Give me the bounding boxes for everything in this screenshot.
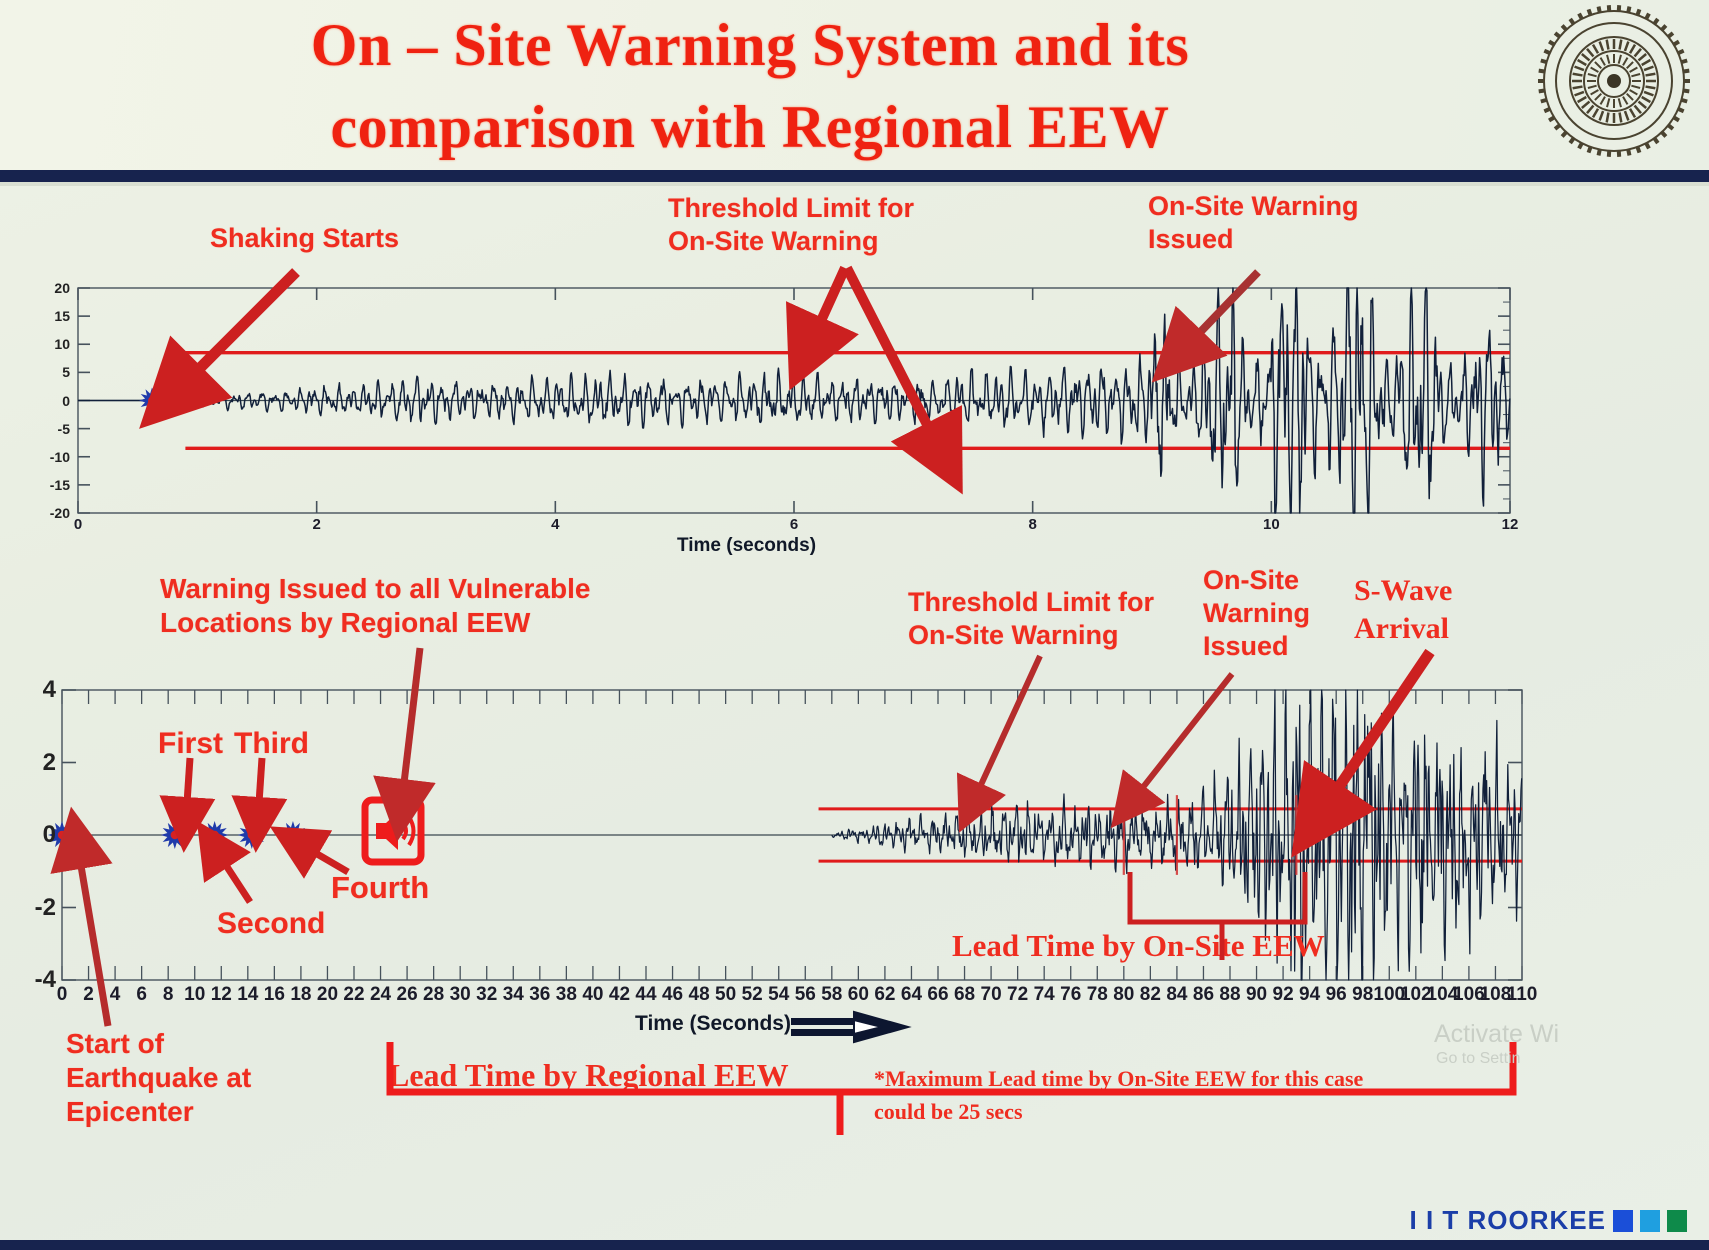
bottom-chart-y-tick-label: -4 bbox=[14, 966, 56, 994]
bottom-chart-x-tick-label: 22 bbox=[343, 984, 364, 1006]
annotation-swave-line2: Arrival bbox=[1354, 610, 1544, 648]
bottom-chart-x-tick-label: 94 bbox=[1299, 984, 1320, 1006]
bottom-chart-y-tick-label: 4 bbox=[14, 676, 56, 704]
iit-roorkee-brand-text: I I T ROORKEE bbox=[1410, 1205, 1606, 1236]
bottom-chart-x-tick-label: 46 bbox=[662, 984, 683, 1006]
annotation-bottom-onsite-warning-issued: On-Site Warning Issued bbox=[1203, 564, 1353, 663]
top-chart-x-tick-label: 2 bbox=[312, 516, 320, 533]
bottom-chart-x-tick-label: 44 bbox=[635, 984, 656, 1006]
bottom-chart-y-tick-label: 2 bbox=[14, 749, 56, 777]
top-seismogram-chart bbox=[78, 288, 1510, 513]
annotation-top-threshold-line1: Threshold Limit for bbox=[668, 192, 998, 225]
header-divider-light bbox=[0, 182, 1709, 186]
annotation-start-line1: Start of bbox=[66, 1027, 326, 1061]
bottom-chart-x-tick-label: 54 bbox=[768, 984, 789, 1006]
bottom-chart-x-tick-label: 76 bbox=[1060, 984, 1081, 1006]
bottom-chart-x-tick-label: 36 bbox=[529, 984, 550, 1006]
bottom-chart-x-tick-label: 28 bbox=[423, 984, 444, 1006]
bottom-chart-x-tick-label: 30 bbox=[450, 984, 471, 1006]
bottom-chart-x-tick-label: 26 bbox=[397, 984, 418, 1006]
bottom-chart-x-tick-label: 64 bbox=[901, 984, 922, 1006]
annotation-s-wave-arrival: S-Wave Arrival bbox=[1354, 572, 1544, 647]
bottom-chart-x-tick-label: 52 bbox=[742, 984, 763, 1006]
bottom-chart-x-tick-label: 10 bbox=[184, 984, 205, 1006]
annotation-footnote: *Maximum Lead time by On-Site EEW for th… bbox=[874, 1062, 1514, 1128]
annotation-top-threshold-line2: On-Site Warning bbox=[668, 225, 998, 258]
annotation-shaking-starts: Shaking Starts bbox=[210, 222, 399, 255]
iit-roorkee-brand: I I T ROORKEE bbox=[1410, 1205, 1687, 1236]
annotation-fourth: Fourth bbox=[331, 869, 429, 907]
bottom-chart-x-tick-label: 90 bbox=[1246, 984, 1267, 1006]
annotation-start-of-earthquake: Start of Earthquake at Epicenter bbox=[66, 1027, 326, 1129]
brand-swatch-3 bbox=[1667, 1210, 1687, 1232]
annotation-top-threshold-limit: Threshold Limit for On-Site Warning bbox=[668, 192, 998, 258]
bottom-chart-x-tick-label: 20 bbox=[317, 984, 338, 1006]
bottom-chart-y-tick-label: -2 bbox=[14, 894, 56, 922]
bottom-chart-x-tick-label: 78 bbox=[1087, 984, 1108, 1006]
annotation-onsite-line2: Warning bbox=[1203, 597, 1353, 630]
bottom-chart-x-tick-label: 8 bbox=[163, 984, 174, 1006]
bottom-chart-y-tick-label: 0 bbox=[14, 821, 56, 849]
bottom-chart-x-tick-label: 86 bbox=[1193, 984, 1214, 1006]
bottom-chart-x-tick-label: 60 bbox=[848, 984, 869, 1006]
annotation-third: Third bbox=[234, 726, 309, 763]
top-chart-y-tick-label: 20 bbox=[24, 280, 70, 296]
annotation-bottom-threshold-line1: Threshold Limit for bbox=[908, 586, 1208, 619]
bottom-chart-x-tick-label: 18 bbox=[290, 984, 311, 1006]
iit-roorkee-seal-icon bbox=[1539, 6, 1689, 156]
bottom-chart-x-tick-label: 12 bbox=[211, 984, 232, 1006]
annotation-second: Second bbox=[217, 906, 325, 943]
bottom-chart-x-tick-label: 96 bbox=[1326, 984, 1347, 1006]
annotation-onsite-line3: Issued bbox=[1203, 630, 1353, 663]
bottom-chart-x-tick-label: 4 bbox=[110, 984, 121, 1006]
bottom-chart-x-tick-label: 80 bbox=[1113, 984, 1134, 1006]
bottom-chart-x-tick-label: 74 bbox=[1034, 984, 1055, 1006]
bottom-chart-x-tick-label: 56 bbox=[795, 984, 816, 1006]
slide-canvas: On – Site Warning System and its compari… bbox=[0, 0, 1709, 1250]
top-chart-y-tick-label: -10 bbox=[24, 449, 70, 465]
bottom-chart-x-tick-label: 38 bbox=[556, 984, 577, 1006]
brand-swatch-2 bbox=[1640, 1210, 1660, 1232]
footnote-line2: could be 25 secs bbox=[874, 1095, 1514, 1128]
annotation-first: First bbox=[158, 726, 223, 763]
bottom-chart-x-tick-label: 48 bbox=[689, 984, 710, 1006]
bottom-chart-x-tick-label: 32 bbox=[476, 984, 497, 1006]
footnote-line1: *Maximum Lead time by On-Site EEW for th… bbox=[874, 1062, 1514, 1095]
bottom-chart-x-tick-label: 98 bbox=[1352, 984, 1373, 1006]
top-chart-x-tick-label: 8 bbox=[1028, 516, 1036, 533]
annotation-regional-line1: Warning Issued to all Vulnerable bbox=[160, 572, 680, 606]
bottom-chart-x-tick-label: 58 bbox=[821, 984, 842, 1006]
top-chart-y-tick-label: -5 bbox=[24, 421, 70, 437]
bottom-chart-x-tick-label: 62 bbox=[874, 984, 895, 1006]
brand-swatch-1 bbox=[1613, 1210, 1633, 1232]
annotation-start-line2: Earthquake at bbox=[66, 1061, 326, 1095]
bottom-chart-x-tick-label: 40 bbox=[582, 984, 603, 1006]
top-chart-x-tick-label: 4 bbox=[551, 516, 559, 533]
bottom-chart-x-tick-label: 92 bbox=[1273, 984, 1294, 1006]
bottom-chart-x-tick-label: 110 bbox=[1507, 984, 1538, 1006]
top-chart-x-tick-label: 12 bbox=[1502, 516, 1519, 533]
bottom-chart-x-tick-label: 14 bbox=[237, 984, 258, 1006]
annotation-lead-time-regional: Lead Time by Regional EEW bbox=[388, 1057, 789, 1094]
top-chart-y-tick-label: 15 bbox=[24, 308, 70, 324]
top-chart-y-tick-label: -15 bbox=[24, 477, 70, 493]
bottom-chart-x-tick-label: 70 bbox=[981, 984, 1002, 1006]
page-title-line1: On – Site Warning System and its bbox=[150, 4, 1350, 86]
top-chart-x-tick-label: 10 bbox=[1263, 516, 1280, 533]
bottom-chart-x-axis-caption: Time (Seconds) bbox=[635, 1012, 791, 1036]
page-title: On – Site Warning System and its compari… bbox=[150, 4, 1350, 168]
annotation-lead-time-onsite: Lead Time by On-Site EEW bbox=[952, 928, 1325, 964]
top-chart-y-tick-label: 0 bbox=[24, 393, 70, 409]
bottom-chart-x-tick-label: 34 bbox=[503, 984, 524, 1006]
bottom-chart-x-tick-label: 24 bbox=[370, 984, 391, 1006]
top-chart-y-tick-label: -20 bbox=[24, 505, 70, 521]
right-arrow-icon bbox=[790, 1008, 930, 1048]
bottom-chart-x-tick-label: 42 bbox=[609, 984, 630, 1006]
annotation-top-warning-line2: Issued bbox=[1148, 223, 1478, 256]
footer-bar bbox=[0, 1240, 1709, 1250]
annotation-top-warning-line1: On-Site Warning bbox=[1148, 190, 1478, 223]
annotation-top-onsite-warning-issued: On-Site Warning Issued bbox=[1148, 190, 1478, 256]
bottom-chart-x-tick-label: 0 bbox=[57, 984, 68, 1006]
bottom-chart-x-tick-label: 88 bbox=[1219, 984, 1240, 1006]
annotation-swave-line1: S-Wave bbox=[1354, 572, 1544, 610]
top-chart-x-axis-caption: Time (seconds) bbox=[677, 535, 816, 557]
bottom-chart-x-tick-label: 72 bbox=[1007, 984, 1028, 1006]
bottom-chart-x-tick-label: 66 bbox=[927, 984, 948, 1006]
activate-windows-watermark-line1: Activate Wi bbox=[1434, 1020, 1559, 1049]
top-chart-x-tick-label: 0 bbox=[74, 516, 82, 533]
annotation-regional-line2: Locations by Regional EEW bbox=[160, 606, 680, 640]
annotation-bottom-threshold-line2: On-Site Warning bbox=[908, 619, 1208, 652]
slide-header: On – Site Warning System and its compari… bbox=[0, 0, 1709, 170]
alarm-speaker-icon bbox=[362, 797, 424, 865]
annotation-onsite-line1: On-Site bbox=[1203, 564, 1353, 597]
top-chart-y-tick-label: 5 bbox=[24, 364, 70, 380]
annotation-regional-warning: Warning Issued to all Vulnerable Locatio… bbox=[160, 572, 680, 640]
bottom-chart-x-tick-label: 84 bbox=[1166, 984, 1187, 1006]
bottom-chart-x-tick-label: 2 bbox=[83, 984, 94, 1006]
bottom-chart-x-tick-label: 16 bbox=[264, 984, 285, 1006]
bottom-chart-x-tick-label: 82 bbox=[1140, 984, 1161, 1006]
activate-windows-watermark-line2: Go to Settin bbox=[1436, 1050, 1521, 1068]
bottom-chart-x-tick-label: 50 bbox=[715, 984, 736, 1006]
annotation-bottom-threshold-limit: Threshold Limit for On-Site Warning bbox=[908, 586, 1208, 652]
top-chart-y-tick-label: 10 bbox=[24, 336, 70, 352]
bottom-chart-x-tick-label: 6 bbox=[136, 984, 147, 1006]
top-chart-x-tick-label: 6 bbox=[790, 516, 798, 533]
page-title-line2: comparison with Regional EEW bbox=[150, 86, 1350, 168]
header-divider bbox=[0, 170, 1709, 182]
bottom-chart-x-tick-label: 68 bbox=[954, 984, 975, 1006]
annotation-start-line3: Epicenter bbox=[66, 1095, 326, 1129]
